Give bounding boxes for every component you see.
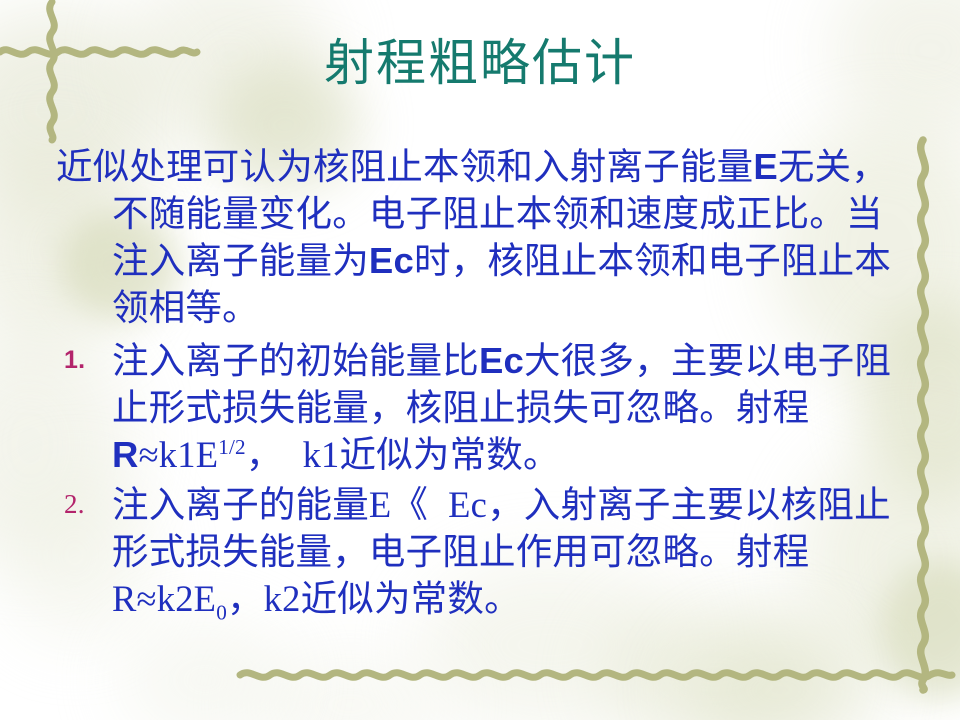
list-item: 2.注入离子的能量E《Ec，入射离子主要以核阻止形式损失能量，电子阻止作用可忽略… [56, 481, 906, 622]
numbered-list: 1.注入离子的初始能量比Ec大很多，主要以电子阻止形式损失能量，核阻止损失可忽略… [56, 337, 906, 622]
item1-seg1: 注入离子的初始能量比 [112, 340, 479, 381]
intro-symbol-E: E [753, 146, 778, 187]
item1-seg5: k1近似为常数。 [303, 434, 560, 475]
item1-seg4: ， [246, 434, 283, 475]
item1-symbol-Ec: Ec [479, 340, 524, 381]
intro-paragraph-lead: 近似处理可认为核阻止本领和入射离子能量 [56, 146, 753, 187]
item2-formula-subscript: 0 [216, 600, 227, 624]
item1-formula-R: R [112, 434, 139, 475]
item1-formula-exponent: 1/2 [218, 435, 246, 459]
list-marker-2: 2. [64, 485, 85, 523]
item1-formula-base: k1E [159, 434, 218, 475]
item2-seg1: 注入离子的能量E《 [112, 484, 428, 525]
item1-formula-approx: ≈ [139, 434, 159, 475]
intro-paragraph: 近似处理可认为核阻止本领和入射离子能量E无关，不随能量变化。电子阻止本领和速度成… [56, 143, 906, 331]
wavy-vertical-rule [905, 140, 945, 690]
wavy-horizontal-rule [240, 655, 960, 695]
list-marker-1: 1. [64, 341, 85, 379]
slide-body: 近似处理可认为核阻止本领和入射离子能量E无关，不随能量变化。电子阻止本领和速度成… [56, 143, 906, 625]
item2-seg3: ，k2近似为常数。 [227, 578, 521, 619]
slide-canvas: 射程粗略估计 近似处理可认为核阻止本领和入射离子能量E无关，不随能量变化。电子阻… [0, 0, 960, 720]
page-title: 射程粗略估计 [0, 36, 960, 91]
intro-symbol-Ec: Ec [369, 240, 414, 281]
list-item: 1.注入离子的初始能量比Ec大很多，主要以电子阻止形式损失能量，核阻止损失可忽略… [56, 337, 906, 478]
